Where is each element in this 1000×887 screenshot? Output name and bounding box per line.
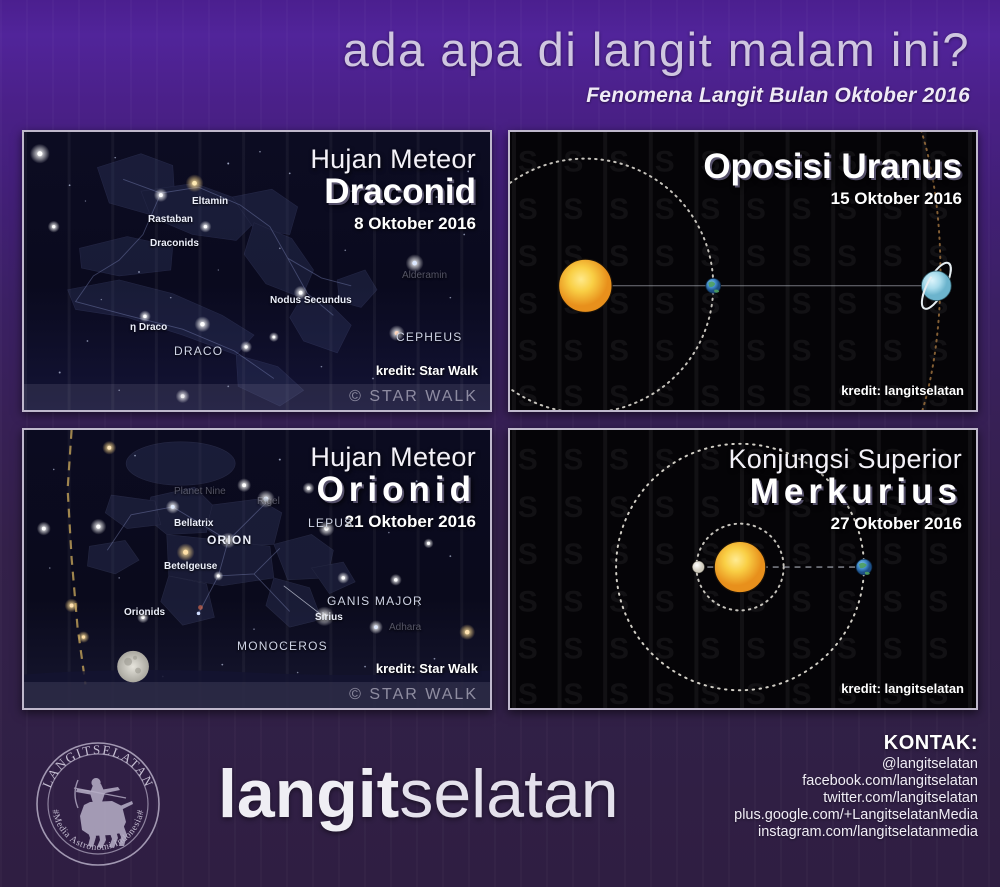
orionid-title-line2: Orionid	[310, 470, 476, 510]
svg-text:S: S	[518, 146, 538, 179]
draconid-title-block: Hujan Meteor Draconid 8 Oktober 2016	[310, 144, 476, 234]
svg-text:S: S	[609, 444, 629, 477]
svg-text:S: S	[518, 287, 538, 320]
svg-text:S: S	[837, 240, 857, 273]
wordmark-light: selatan	[399, 756, 618, 832]
svg-text:S: S	[928, 585, 948, 618]
svg-text:S: S	[518, 633, 538, 666]
svg-text:S: S	[792, 240, 812, 273]
constellation-label-cepheus: CEPHEUS	[396, 330, 462, 344]
svg-text:S: S	[564, 146, 584, 179]
star-label-bellatrix: Bellatrix	[174, 518, 213, 529]
panel-merkurius[interactable]: SSS SSS SSSS SSS SSS SSSS SSS SSS SSSS S…	[508, 428, 978, 710]
constellation-label-ganis-major: GANIS MAJOR	[327, 594, 423, 608]
panel-draconid[interactable]: Hujan Meteor Draconid 8 Oktober 2016 Elt…	[22, 130, 492, 412]
svg-text:S: S	[792, 585, 812, 618]
star-label-rastaban: Rastaban	[148, 214, 193, 225]
constellation-label-orion: ORION	[207, 533, 252, 547]
poster-footer: LANGITSELATAN #Media Astronomi Indonesia…	[0, 712, 1000, 887]
draconid-title-line2: Draconid	[310, 172, 476, 212]
svg-text:S: S	[609, 538, 629, 571]
page-title: ada apa di langit malam ini?	[343, 22, 970, 77]
orionid-title-line1: Hujan Meteor	[310, 442, 476, 473]
merkurius-title-block: Konjungsi Superior Merkurius 27 Oktober …	[728, 444, 962, 534]
svg-text:S: S	[792, 380, 812, 410]
merkurius-title-line2: Merkurius	[728, 472, 962, 512]
svg-text:S: S	[746, 335, 766, 368]
svg-text:S: S	[518, 380, 538, 410]
page-subtitle: Fenomena Langit Bulan Oktober 2016	[586, 84, 970, 108]
svg-text:S: S	[883, 633, 903, 666]
contact-instagram[interactable]: instagram.com/langitselatanmedia	[734, 824, 978, 840]
constellation-label-lepus: LEPUS	[308, 516, 353, 530]
contact-twitter[interactable]: twitter.com/langitselatan	[734, 790, 978, 806]
svg-text:S: S	[700, 380, 720, 410]
contact-facebook[interactable]: facebook.com/langitselatan	[734, 773, 978, 789]
svg-text:S: S	[564, 380, 584, 410]
svg-text:S: S	[883, 335, 903, 368]
svg-text:S: S	[655, 585, 675, 618]
wordmark-bold: langit	[218, 756, 399, 832]
svg-text:S: S	[518, 193, 538, 226]
svg-text:S: S	[700, 444, 720, 477]
svg-text:S: S	[655, 335, 675, 368]
contact-google-plus[interactable]: plus.google.com/+LangitselatanMedia	[734, 807, 978, 823]
svg-text:S: S	[609, 633, 629, 666]
merkurius-title-line1: Konjungsi Superior	[728, 444, 962, 475]
uranus-credit: kredit: langitselatan	[841, 383, 964, 398]
svg-text:S: S	[609, 193, 629, 226]
svg-text:S: S	[564, 444, 584, 477]
svg-text:S: S	[746, 287, 766, 320]
svg-text:S: S	[609, 678, 629, 708]
svg-text:S: S	[518, 335, 538, 368]
star-label-betelgeuse: Betelgeuse	[164, 561, 217, 572]
svg-text:S: S	[883, 538, 903, 571]
orionid-credit: kredit: Star Walk	[376, 661, 478, 676]
svg-text:S: S	[564, 335, 584, 368]
svg-text:S: S	[700, 491, 720, 524]
merkurius-date: 27 Oktober 2016	[728, 514, 962, 534]
svg-text:S: S	[564, 491, 584, 524]
svg-text:S: S	[655, 491, 675, 524]
svg-text:S: S	[655, 678, 675, 708]
svg-text:S: S	[792, 633, 812, 666]
svg-text:S: S	[746, 380, 766, 410]
svg-text:S: S	[837, 335, 857, 368]
svg-text:S: S	[564, 633, 584, 666]
svg-text:S: S	[928, 633, 948, 666]
star-label-eltamin: Eltamin	[192, 196, 228, 207]
poster-header: ada apa di langit malam ini? Fenomena La…	[0, 0, 1000, 120]
svg-text:S: S	[746, 240, 766, 273]
svg-text:S: S	[609, 287, 629, 320]
svg-text:S: S	[564, 585, 584, 618]
svg-text:S: S	[655, 538, 675, 571]
svg-text:S: S	[655, 240, 675, 273]
star-label-sirius: Sirius	[315, 612, 343, 623]
star-label-alderamin: Alderamin	[402, 270, 447, 281]
svg-text:S: S	[609, 335, 629, 368]
svg-text:S: S	[837, 287, 857, 320]
langitselatan-wordmark: langitselatan	[218, 760, 619, 828]
svg-text:S: S	[518, 678, 538, 708]
svg-text:S: S	[837, 538, 857, 571]
svg-text:S: S	[700, 633, 720, 666]
draconid-title-line1: Hujan Meteor	[310, 144, 476, 175]
svg-text:S: S	[746, 633, 766, 666]
svg-text:S: S	[928, 335, 948, 368]
svg-text:S: S	[746, 678, 766, 708]
star-label-eta-draco: η Draco	[130, 322, 167, 333]
svg-text:S: S	[655, 380, 675, 410]
uranus-title-block: Oposisi Uranus 15 Oktober 2016	[703, 150, 962, 209]
svg-text:S: S	[564, 193, 584, 226]
svg-text:S: S	[700, 678, 720, 708]
panel-uranus[interactable]: SSS SSS SSSS SSS SSS SSSS SSS SSS SSSS S…	[508, 130, 978, 412]
panel-orionid[interactable]: Hujan Meteor Orionid 21 Oktober 2016 Pla…	[22, 428, 492, 710]
star-walk-watermark: © STAR WALK	[349, 686, 478, 704]
orionid-watermark-bar: © STAR WALK	[24, 682, 490, 708]
svg-text:S: S	[518, 491, 538, 524]
svg-text:S: S	[792, 538, 812, 571]
star-label-adhara: Adhara	[389, 622, 421, 633]
star-label-nodus-secundus: Nodus Secundus	[270, 295, 352, 306]
draconid-credit: kredit: Star Walk	[376, 363, 478, 378]
svg-text:S: S	[792, 335, 812, 368]
svg-text:S: S	[655, 193, 675, 226]
constellation-label-monoceros: MONOCEROS	[237, 639, 328, 653]
svg-text:S: S	[609, 146, 629, 179]
svg-text:S: S	[518, 444, 538, 477]
langitselatan-logo: LANGITSELATAN #Media Astronomi Indonesia…	[34, 740, 162, 868]
star-walk-watermark: © STAR WALK	[349, 388, 478, 406]
star-label-planet-nine: Planet Nine	[174, 486, 226, 497]
star-label-orionids: Orionids	[124, 607, 165, 618]
svg-text:S: S	[655, 146, 675, 179]
draconid-watermark-bar: © STAR WALK	[24, 384, 490, 410]
svg-text:S: S	[655, 633, 675, 666]
constellation-label-draco: DRACO	[174, 344, 223, 358]
svg-text:S: S	[837, 633, 857, 666]
svg-text:S: S	[564, 538, 584, 571]
centaur-archer-icon	[76, 778, 133, 848]
svg-text:S: S	[609, 240, 629, 273]
svg-text:S: S	[609, 380, 629, 410]
svg-text:S: S	[883, 240, 903, 273]
svg-text:S: S	[792, 287, 812, 320]
merkurius-credit: kredit: langitselatan	[841, 681, 964, 696]
uranus-title-line1: Oposisi Uranus	[703, 147, 962, 187]
svg-text:S: S	[655, 444, 675, 477]
star-label-draconids: Draconids	[150, 238, 199, 249]
svg-text:S: S	[883, 287, 903, 320]
star-label-rigel: Rigel	[257, 496, 280, 507]
svg-text:S: S	[564, 678, 584, 708]
contact-block: KONTAK: @langitselatan facebook.com/lang…	[734, 732, 978, 840]
uranus-date: 15 Oktober 2016	[703, 189, 962, 209]
draconid-date: 8 Oktober 2016	[310, 214, 476, 234]
svg-text:S: S	[700, 335, 720, 368]
svg-text:S: S	[883, 585, 903, 618]
svg-text:S: S	[518, 240, 538, 273]
contact-instagram-handle[interactable]: @langitselatan	[734, 756, 978, 772]
contact-heading: KONTAK:	[734, 732, 978, 755]
svg-text:S: S	[928, 538, 948, 571]
svg-text:S: S	[518, 585, 538, 618]
svg-text:S: S	[655, 287, 675, 320]
svg-text:S: S	[518, 538, 538, 571]
svg-text:S: S	[792, 678, 812, 708]
